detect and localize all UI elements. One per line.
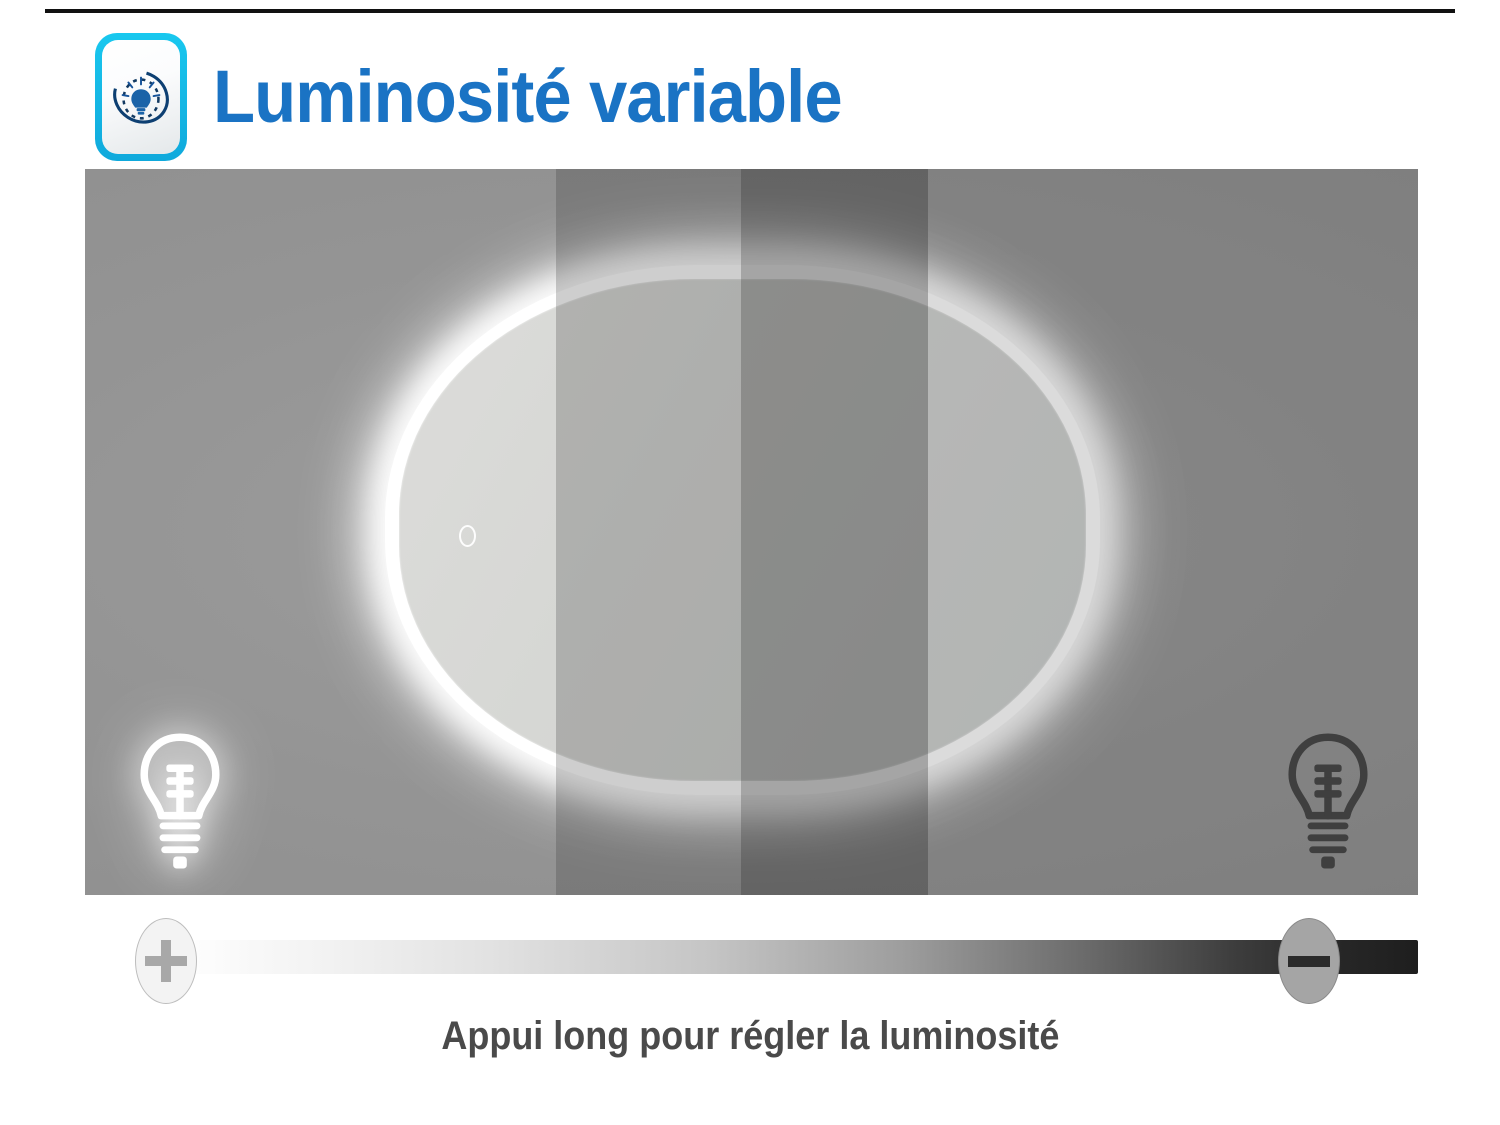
brightness-slider[interactable] [85,918,1418,1010]
led-mirror-illustration [85,169,1418,895]
decrease-brightness-button[interactable] [1278,918,1340,1004]
touch-sensor-ring[interactable] [459,525,476,547]
mirror-assembly [385,265,1100,795]
dial-bulb-glyph [110,66,172,128]
bulb-on-bright-icon [125,727,235,877]
minus-icon [1288,956,1330,967]
dimmer-dial-bulb-icon [95,33,187,161]
bulb-off-dim-icon [1273,727,1383,877]
plus-icon [145,940,187,982]
brightness-slider-track[interactable] [195,940,1418,974]
instruction-caption-text: Appui long pour régler la luminosité [441,1014,1059,1059]
bulb-off-glyph [1273,727,1383,877]
top-divider-rule [45,9,1455,13]
mirror-glass-face [399,279,1086,781]
bulb-on-glyph [125,727,235,877]
page-header: Luminosité variable [95,33,889,161]
instruction-caption: Appui long pour régler la luminosité [0,1014,1500,1059]
increase-brightness-button[interactable] [135,918,197,1004]
page-title: Luminosité variable [213,60,842,134]
app-icon-inner-face [102,40,180,154]
